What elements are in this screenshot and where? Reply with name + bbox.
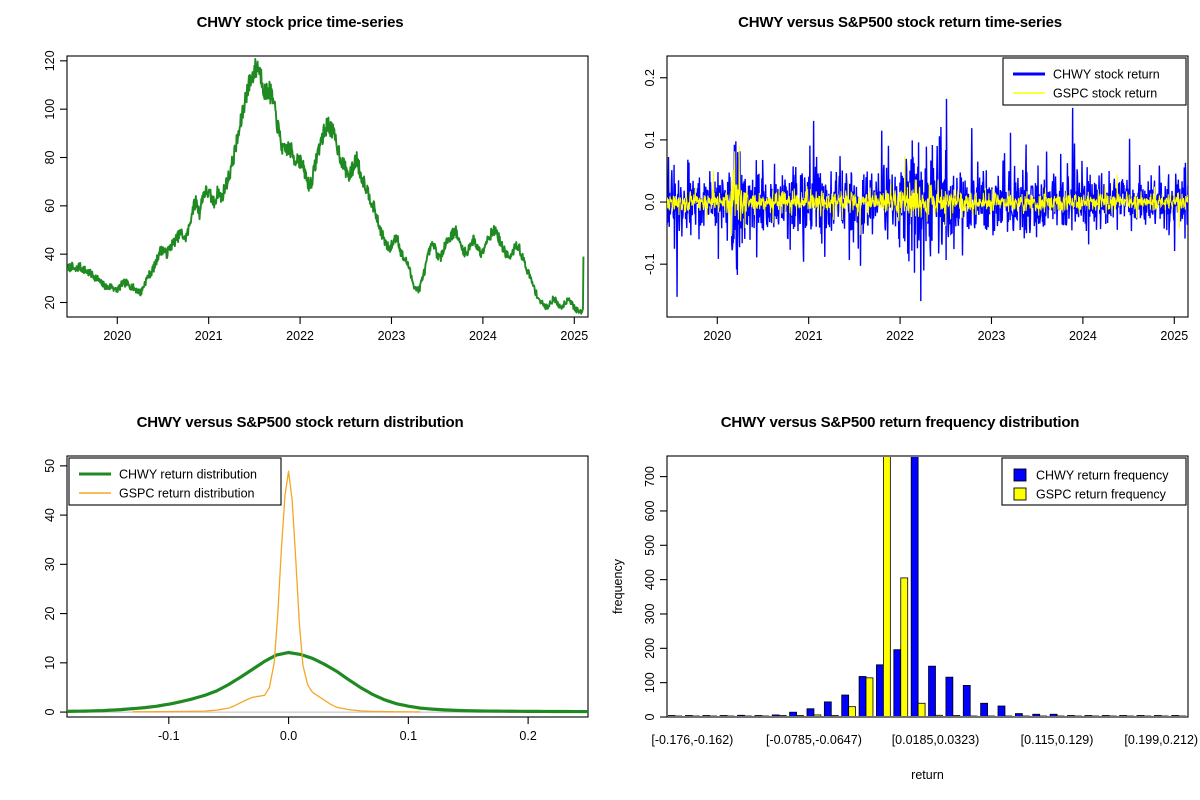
- x-tick-label: 2020: [103, 329, 131, 343]
- panel-return-distribution: CHWY versus S&P500 stock return distribu…: [0, 400, 600, 800]
- bar-chwy: [859, 676, 866, 717]
- legend-label: GSPC return distribution: [119, 487, 255, 501]
- bar-chwy: [911, 456, 918, 717]
- bar-chwy: [929, 666, 936, 717]
- legend-return-frequency: CHWY return frequencyGSPC return frequen…: [1002, 458, 1186, 505]
- x-tick-label: 2024: [469, 329, 497, 343]
- bar-chwy: [842, 695, 849, 717]
- panel-chwy-price-timeseries: CHWY stock price time-series 20406080100…: [0, 0, 600, 400]
- y-tick-label: 100: [643, 672, 657, 693]
- y-tick-label: 40: [43, 247, 57, 261]
- y-tick-label: 20: [43, 296, 57, 310]
- chwy-price-line: [68, 59, 584, 314]
- x-tick-label: -0.1: [158, 729, 180, 743]
- x-tick-label: 2023: [378, 329, 406, 343]
- y-axis-title: frequency: [611, 558, 625, 614]
- bar-chwy: [998, 706, 1005, 717]
- x-tick-label: [-0.0785,-0.0647): [766, 733, 862, 747]
- x-tick-label: 2022: [886, 329, 914, 343]
- x-tick-label: 0.1: [400, 729, 417, 743]
- plot-return-timeseries: -0.10.00.10.2202020212022202320242025CHW…: [600, 0, 1200, 400]
- plot-chwy-price: 20406080100120202020212022202320242025: [0, 0, 600, 400]
- x-tick-label: [0.199,0.212): [1124, 733, 1198, 747]
- plot-return-frequency: 0100200300400500600700frequencyreturn[-0…: [600, 400, 1200, 800]
- y-tick-label: 0: [43, 709, 57, 716]
- y-tick-label: 400: [643, 569, 657, 590]
- legend-label: CHWY return distribution: [119, 468, 257, 482]
- r-graphics-figure: CHWY stock price time-series 20406080100…: [0, 0, 1200, 800]
- x-tick-label: [-0.176,-0.162): [651, 733, 733, 747]
- bar-gspc: [901, 578, 908, 717]
- bar-gspc: [918, 703, 925, 717]
- y-tick-label: -0.1: [643, 253, 657, 275]
- y-tick-label: 0.1: [643, 131, 657, 148]
- y-tick-label: 300: [643, 603, 657, 624]
- x-tick-label: 2024: [1069, 329, 1097, 343]
- bar-chwy: [876, 665, 883, 717]
- y-tick-label: 100: [43, 99, 57, 120]
- x-tick-label: 2025: [1160, 329, 1188, 343]
- bar-chwy: [894, 650, 901, 717]
- x-axis-title: return: [911, 768, 944, 782]
- return-series-group: [667, 99, 1188, 301]
- y-tick-label: 200: [643, 638, 657, 659]
- bar-gspc: [883, 456, 890, 717]
- bar-chwy: [946, 677, 953, 717]
- x-tick-label: 0.2: [519, 729, 536, 743]
- gspc-density-curve: [133, 471, 420, 712]
- y-tick-label: 50: [43, 459, 57, 473]
- x-tick-label: 0.0: [280, 729, 297, 743]
- y-tick-label: 40: [43, 508, 57, 522]
- legend-label: CHWY stock return: [1053, 68, 1160, 82]
- legend-swatch-square: [1014, 488, 1026, 500]
- legend-swatch-square: [1014, 469, 1026, 481]
- plot-return-distribution: 01020304050-0.10.00.10.2CHWY return dist…: [0, 400, 600, 800]
- legend-label: GSPC stock return: [1053, 87, 1157, 101]
- bar-chwy: [981, 703, 988, 717]
- y-tick-label: 10: [43, 656, 57, 670]
- x-tick-label: 2023: [978, 329, 1006, 343]
- y-tick-label: 0.0: [643, 193, 657, 210]
- x-tick-label: [0.0185,0.0323): [892, 733, 980, 747]
- y-tick-label: 500: [643, 535, 657, 556]
- x-tick-label: [0.115,0.129): [1021, 733, 1094, 747]
- bar-gspc: [849, 707, 856, 717]
- x-tick-label: 2021: [195, 329, 223, 343]
- legend-label: GSPC return frequency: [1036, 488, 1167, 502]
- bar-chwy: [807, 709, 814, 717]
- legend-return-timeseries: CHWY stock returnGSPC stock return: [1003, 58, 1186, 105]
- panel-return-frequency: CHWY versus S&P500 return frequency dist…: [600, 400, 1200, 800]
- bar-gspc: [866, 678, 873, 717]
- bar-chwy: [790, 712, 797, 717]
- y-tick-label: 60: [43, 199, 57, 213]
- legend-return-distribution: CHWY return distributionGSPC return dist…: [69, 458, 281, 505]
- y-tick-label: 600: [643, 500, 657, 521]
- y-tick-label: 700: [643, 466, 657, 487]
- panel-return-timeseries: CHWY versus S&P500 stock return time-ser…: [600, 0, 1200, 400]
- bar-chwy: [824, 702, 831, 717]
- x-tick-label: 2022: [286, 329, 314, 343]
- x-tick-label: 2021: [795, 329, 823, 343]
- legend-label: CHWY return frequency: [1036, 469, 1169, 483]
- y-tick-label: 30: [43, 557, 57, 571]
- y-tick-label: 0.2: [643, 69, 657, 86]
- x-tick-label: 2025: [560, 329, 588, 343]
- bar-chwy: [963, 685, 970, 717]
- y-tick-label: 120: [43, 50, 57, 71]
- y-tick-label: 0: [643, 713, 657, 720]
- y-tick-label: 20: [43, 607, 57, 621]
- plot-frame: [67, 56, 588, 317]
- x-tick-label: 2020: [703, 329, 731, 343]
- y-tick-label: 80: [43, 151, 57, 165]
